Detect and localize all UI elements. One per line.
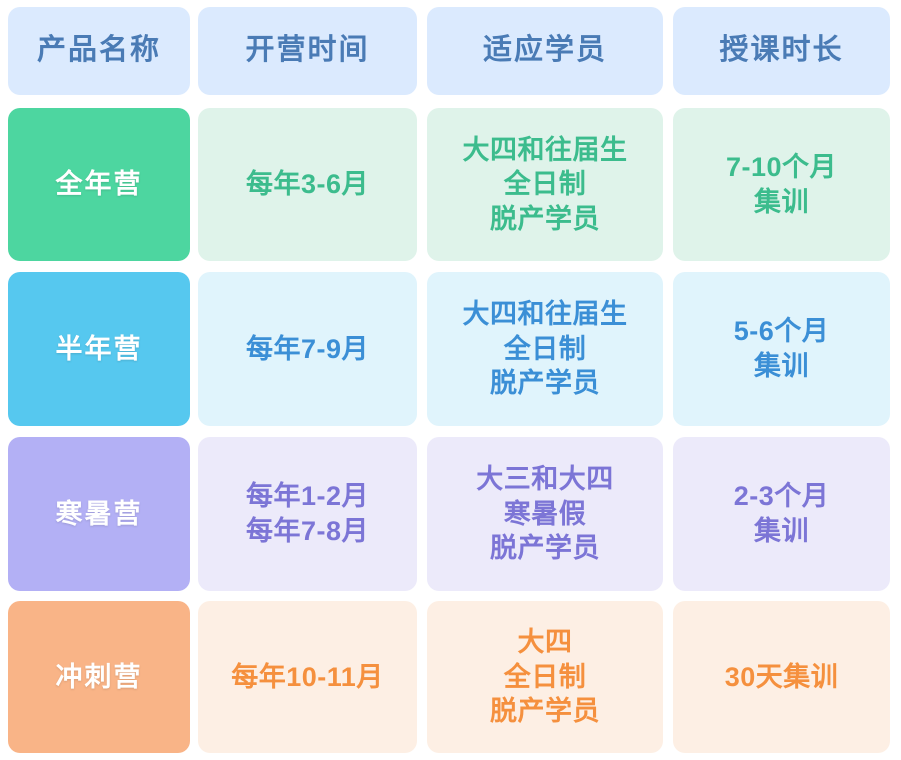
start-time-cell: 每年1-2月 每年7-8月 [198, 437, 417, 591]
product-name-chip: 冲刺营 [8, 601, 190, 753]
audience-cell: 大四和往届生 全日制 脱产学员 [427, 272, 663, 426]
start-time-cell: 每年7-9月 [198, 272, 417, 426]
duration-cell: 30天集训 [673, 601, 890, 753]
duration-cell: 5-6个月 集训 [673, 272, 890, 426]
product-name-label: 寒暑营 [56, 497, 143, 532]
start-time-cell: 每年3-6月 [198, 108, 417, 261]
header-label: 开营时间 [245, 32, 369, 69]
table-header-duration: 授课时长 [673, 7, 890, 95]
product-name-label: 半年营 [56, 332, 143, 367]
course-comparison-table: 产品名称 开营时间 适应学员 授课时长 全年营 每年3-6月 大四和往届生 全日… [0, 0, 901, 760]
start-time-cell: 每年10-11月 [198, 601, 417, 753]
audience-cell: 大三和大四 寒暑假 脱产学员 [427, 437, 663, 591]
audience-cell: 大四和往届生 全日制 脱产学员 [427, 108, 663, 261]
table-header-audience: 适应学员 [427, 7, 663, 95]
audience-cell: 大四 全日制 脱产学员 [427, 601, 663, 753]
duration-cell: 7-10个月 集训 [673, 108, 890, 261]
product-name-label: 全年营 [56, 167, 143, 202]
header-label: 产品名称 [37, 32, 161, 69]
table-header-start-time: 开营时间 [198, 7, 417, 95]
duration-cell: 2-3个月 集训 [673, 437, 890, 591]
product-name-chip: 半年营 [8, 272, 190, 426]
product-name-chip: 全年营 [8, 108, 190, 261]
table-header-product-name: 产品名称 [8, 7, 190, 95]
product-name-chip: 寒暑营 [8, 437, 190, 591]
header-label: 适应学员 [483, 32, 607, 69]
product-name-label: 冲刺营 [56, 660, 143, 695]
header-label: 授课时长 [719, 32, 843, 69]
